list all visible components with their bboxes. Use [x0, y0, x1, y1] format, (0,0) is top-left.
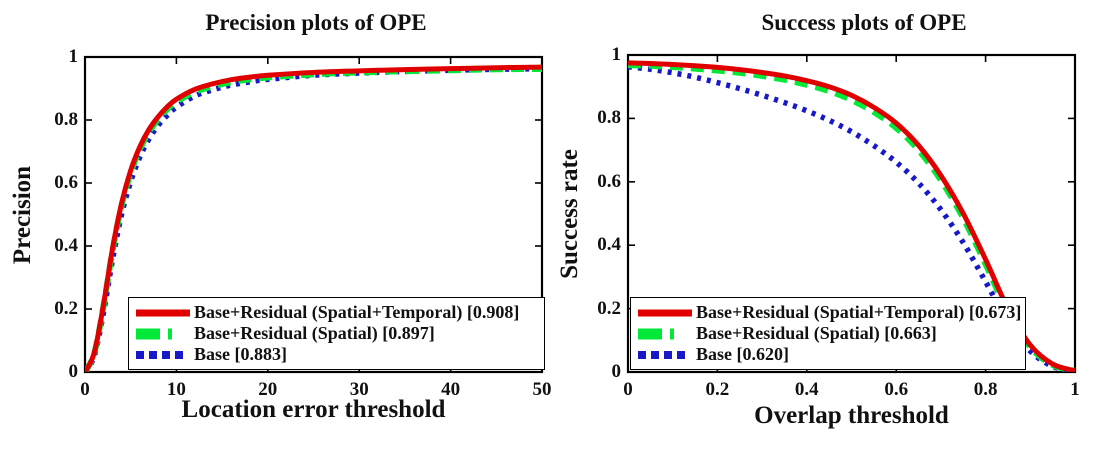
success-y-tick-label: 0.4	[597, 234, 621, 256]
precision-x-tick-label: 10	[167, 379, 186, 401]
legend-label: Base+Residual (Spatial+Temporal) [0.673]	[696, 303, 1021, 322]
success-x-axis-label: Overlap threshold	[628, 402, 1075, 430]
precision-y-tick-label: 0.2	[54, 298, 78, 320]
legend-line-swatch-solid-icon	[134, 303, 192, 323]
legend-line-swatch-dashed-icon	[134, 324, 192, 344]
precision-y-tick-label: 1	[69, 46, 79, 68]
legend-row: Base+Residual (Spatial) [0.663]	[636, 323, 1020, 344]
success-y-tick-label: 0	[612, 361, 622, 383]
precision-x-tick-label: 50	[533, 379, 552, 401]
legend-label: Base+Residual (Spatial) [0.897]	[194, 324, 435, 343]
success-y-tick-label: 0.2	[597, 298, 621, 320]
success-y-tick-label: 0.6	[597, 171, 621, 193]
success-x-tick-label: 0.2	[706, 379, 730, 401]
precision-x-axis-label: Location error threshold	[85, 396, 542, 424]
precision-y-tick-label: 0.8	[54, 109, 78, 131]
legend-line-swatch-dotted-icon	[134, 345, 192, 365]
success-y-tick-label: 0.8	[597, 107, 621, 129]
precision-y-tick-label: 0	[69, 361, 79, 383]
legend-row: Base+Residual (Spatial) [0.897]	[134, 323, 539, 344]
precision-y-tick-label: 0.4	[54, 235, 78, 257]
legend-row: Base+Residual (Spatial+Temporal) [0.673]	[636, 302, 1020, 323]
precision-plot-panel: Precision plots of OPE Precision Locatio…	[0, 0, 560, 464]
legend-line-swatch-solid-icon	[636, 303, 694, 323]
legend-row: Base [0.620]	[636, 344, 1020, 365]
success-plot-panel: Success plots of OPE Success rate Overla…	[560, 0, 1120, 464]
precision-x-tick-label: 20	[258, 379, 277, 401]
legend-label: Base+Residual (Spatial) [0.663]	[696, 324, 937, 343]
legend-row: Base+Residual (Spatial+Temporal) [0.908]	[134, 302, 539, 323]
ope-evaluation-figure: Precision plots of OPE Precision Locatio…	[0, 0, 1120, 464]
success-x-tick-label: 0.6	[884, 379, 908, 401]
precision-y-tick-label: 0.6	[54, 172, 78, 194]
success-x-tick-label: 0.4	[795, 379, 819, 401]
success-x-tick-label: 1	[1070, 379, 1080, 401]
precision-x-tick-label: 40	[441, 379, 460, 401]
success-x-tick-label: 0	[623, 379, 633, 401]
legend-label: Base+Residual (Spatial+Temporal) [0.908]	[194, 303, 519, 322]
legend-label: Base [0.883]	[194, 345, 287, 364]
legend-row: Base [0.883]	[134, 344, 539, 365]
legend-label: Base [0.620]	[696, 345, 789, 364]
precision-x-tick-label: 30	[350, 379, 369, 401]
legend-line-swatch-dashed-icon	[636, 324, 694, 344]
success-plot-canvas	[560, 0, 1120, 464]
success-y-axis-label: Success rate	[556, 149, 584, 279]
success-y-tick-label: 1	[612, 44, 622, 66]
precision-x-tick-label: 0	[80, 379, 90, 401]
success-legend: Base+Residual (Spatial+Temporal) [0.673]…	[630, 297, 1026, 370]
success-x-tick-label: 0.8	[974, 379, 998, 401]
precision-y-axis-label: Precision	[9, 165, 37, 263]
precision-legend: Base+Residual (Spatial+Temporal) [0.908]…	[128, 297, 545, 370]
legend-line-swatch-dotted-icon	[636, 345, 694, 365]
